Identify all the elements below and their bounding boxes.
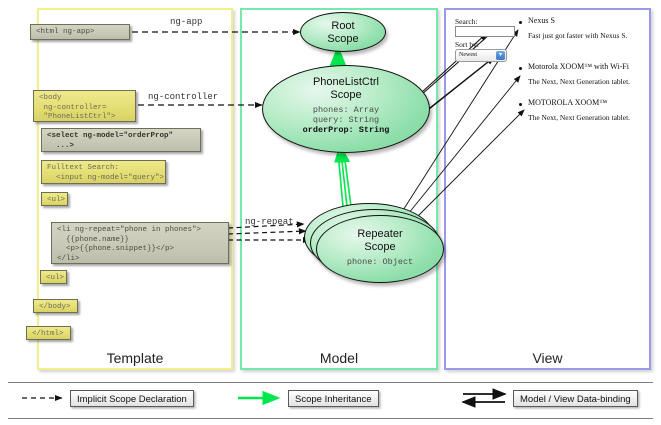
code-box-select: <select ng-model="orderProp" ...> — [41, 128, 201, 152]
sort-by-label: Sort by: — [455, 40, 479, 49]
chevron-down-icon[interactable]: ▾ — [496, 51, 505, 60]
edge-label-ng-repeat: ng-repeat — [245, 217, 294, 227]
scope-ctrl-prop-query: query: String — [263, 115, 429, 125]
legend-divider-bottom — [8, 418, 653, 419]
scope-repeater-prop-phone: phone: Object — [317, 257, 443, 267]
code-box-html-open: <html ng-app> — [30, 24, 130, 40]
legend-divider-top — [8, 382, 653, 383]
code-box-ul-close: <ul> — [40, 270, 67, 284]
scope-repeater-title-line1: Repeater — [317, 228, 443, 241]
code-box-fulltext-search: Fulltext Search: <input ng-model="query"… — [41, 160, 166, 184]
scope-ctrl-prop-phones: phones: Array — [263, 105, 429, 115]
angularjs-scope-diagram: Template Model View — [0, 0, 661, 425]
legend-scope-inheritance: Scope Inheritance — [288, 390, 379, 407]
model-column: Model — [240, 8, 438, 370]
scope-ctrl-title-line2: Scope — [263, 89, 429, 102]
list-bullet-icon — [519, 103, 522, 106]
scope-ctrl-prop-orderprop: orderProp: String — [263, 125, 429, 135]
template-column: Template — [37, 8, 233, 370]
code-box-html-close: </html> — [26, 326, 71, 340]
model-column-label: Model — [242, 350, 436, 366]
legend-implicit-scope-declaration: Implicit Scope Declaration — [70, 390, 194, 407]
phone-name: MOTOROLA XOOM™ — [528, 98, 607, 107]
phone-name: Motorola XOOM™ with Wi-Fi — [528, 62, 629, 71]
scope-repeater-title-line2: Scope — [317, 241, 443, 254]
scope-repeater: Repeater Scope phone: Object — [316, 215, 444, 283]
search-label: Search: — [455, 17, 478, 26]
template-column-label: Template — [39, 350, 231, 366]
code-box-body-close: </body> — [33, 299, 78, 313]
legend-model-view-data-binding: Model / View Data-binding — [513, 390, 638, 407]
code-box-li-ng-repeat: <li ng-repeat="phone in phones"> {{phone… — [51, 222, 229, 264]
edge-label-ng-controller: ng-controller — [148, 92, 218, 102]
edge-label-ng-app: ng-app — [170, 17, 202, 27]
scope-root-title-line1: Root — [301, 20, 385, 33]
phone-name: Nexus S — [528, 16, 555, 25]
scope-ctrl-title-line1: PhoneListCtrl — [263, 76, 429, 89]
phone-snippet: The Next, Next Generation tablet. — [528, 113, 630, 122]
scope-phonelistctrl: PhoneListCtrl Scope phones: Array query:… — [262, 65, 430, 153]
scope-repeater-props: phone: Object — [317, 257, 443, 267]
view-column-label: View — [446, 350, 649, 366]
code-box-body-open: <body ng-controller= "PhoneListCtrl"> — [33, 90, 136, 122]
scope-root: Root Scope — [300, 12, 386, 52]
list-bullet-icon — [519, 21, 522, 24]
scope-root-title-line2: Scope — [301, 33, 385, 46]
sort-by-selected-value: Newest — [459, 52, 477, 58]
phone-snippet: Fast just got faster with Nexus S. — [528, 31, 627, 40]
scope-ctrl-props: phones: Array query: String orderProp: S… — [263, 105, 429, 135]
phone-snippet: The Next, Next Generation tablet. — [528, 77, 630, 86]
sort-by-select[interactable]: Newest ▾ — [455, 49, 507, 62]
list-bullet-icon — [519, 67, 522, 70]
code-box-ul-open: <ul> — [41, 192, 68, 206]
search-input[interactable] — [455, 26, 515, 37]
